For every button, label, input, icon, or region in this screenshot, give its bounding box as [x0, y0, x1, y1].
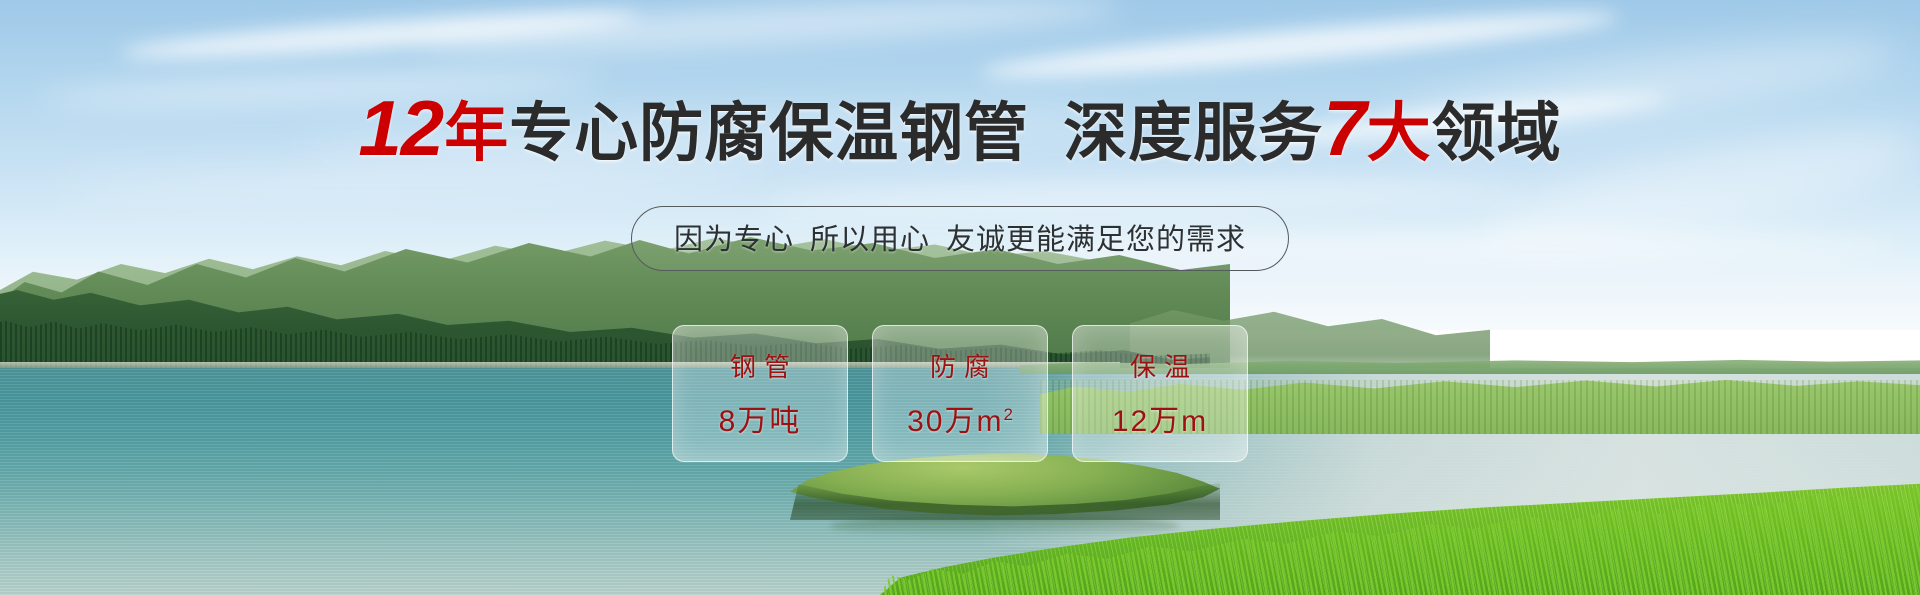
stat-card-value: 12万m	[1112, 396, 1208, 440]
headline-segment-one: 专心防腐保温钢管	[509, 97, 1029, 169]
stat-card-value-superscript: 2	[1003, 405, 1012, 424]
stat-card-anticorrosion: 防腐 30万m2	[872, 325, 1048, 462]
banner-subtitle: 因为专心所以用心友诚更能满足您的需求	[631, 206, 1289, 271]
headline-segment-three: 领域	[1432, 97, 1562, 169]
promo-banner: 12年专心防腐保温钢管深度服务7大领域 因为专心所以用心友诚更能满足您的需求 钢…	[0, 0, 1920, 595]
headline-years-number: 12	[358, 84, 444, 172]
stat-card-value: 8万吨	[719, 396, 802, 440]
subtitle-part-one: 因为专心	[674, 224, 794, 256]
stat-card-value-text: 12万m	[1112, 405, 1208, 438]
headline-fields-number: 7	[1323, 84, 1366, 172]
headline-segment-two: 深度服务	[1063, 97, 1323, 169]
stat-card-title: 钢管	[722, 347, 798, 384]
headline-fields-unit: 大	[1367, 97, 1432, 169]
headline-years-unit: 年	[444, 97, 509, 169]
subtitle-part-two: 所以用心	[810, 224, 930, 256]
stat-card-insulation: 保温 12万m	[1072, 325, 1248, 462]
subtitle-part-three: 友诚更能满足您的需求	[946, 224, 1246, 256]
stat-card-value: 30万m2	[907, 396, 1013, 440]
banner-headline: 12年专心防腐保温钢管深度服务7大领域	[0, 88, 1920, 170]
stat-card-value-text: 30万m	[907, 405, 1003, 438]
stat-card-value-text: 8万吨	[719, 405, 802, 438]
stat-card-title: 防腐	[922, 347, 998, 384]
stat-card-title: 保温	[1122, 347, 1198, 384]
stat-card-group: 钢管 8万吨 防腐 30万m2 保温 12万m	[672, 325, 1248, 462]
grass-island-reflection	[830, 515, 1180, 537]
stat-card-steel-pipe: 钢管 8万吨	[672, 325, 848, 462]
